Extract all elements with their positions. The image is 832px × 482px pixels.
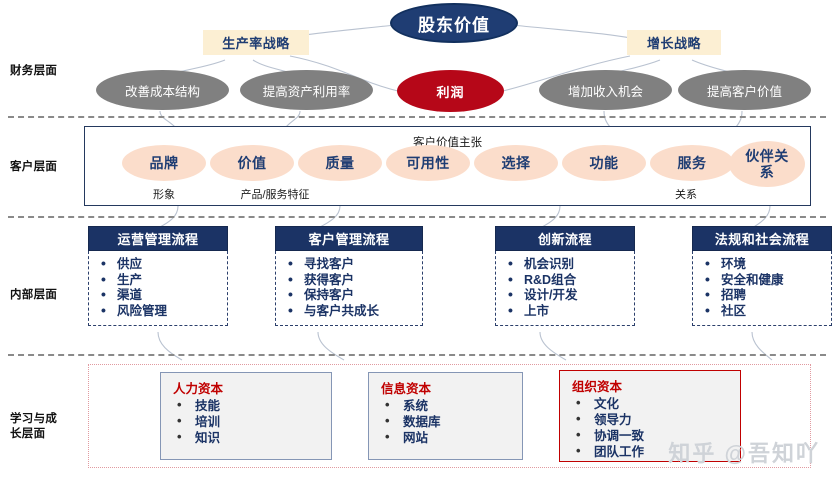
- capital-item: 领导力: [572, 412, 734, 428]
- capital-title-human-capital: 人力资本: [173, 381, 325, 397]
- process-item: 环境: [703, 257, 827, 273]
- capital-box-information-capital[interactable]: 信息资本 系统 数据库 网站: [368, 372, 523, 460]
- process-box-regulatory-social[interactable]: 法规和社会流程 环境 安全和健康 招聘 社区: [692, 226, 832, 326]
- cvp-group-relationship: 关系: [650, 186, 722, 202]
- process-item: 保持客户: [286, 288, 418, 304]
- process-item: 安全和健康: [703, 273, 827, 289]
- divider-customer-internal: [8, 216, 826, 218]
- process-items-regulatory-social: 环境 安全和健康 招聘 社区: [692, 251, 832, 326]
- process-item: 设计/开发: [506, 288, 630, 304]
- strategy-tag-growth[interactable]: 增长战略: [627, 30, 721, 55]
- objective-profit[interactable]: 利润: [397, 70, 504, 112]
- watermark: 知乎 @吾知吖: [668, 436, 820, 468]
- layer-label-customer: 客户层面: [10, 160, 90, 175]
- capital-title-organization-capital: 组织资本: [572, 379, 734, 395]
- capital-box-human-capital[interactable]: 人力资本 技能 培训 知识: [160, 372, 332, 460]
- cvp-availability[interactable]: 可用性: [386, 145, 470, 181]
- cvp-function[interactable]: 功能: [562, 145, 646, 181]
- process-item: 上市: [506, 304, 630, 320]
- process-title-innovation: 创新流程: [495, 226, 635, 251]
- capital-item: 知识: [173, 430, 325, 446]
- capital-item: 系统: [381, 398, 516, 414]
- process-item: 供应: [99, 257, 223, 273]
- objective-customer-value[interactable]: 提高客户价值: [678, 70, 811, 110]
- strategy-map: 财务层面 股东价值 生产率战略 增长战略 改善成本结构 提高资产利用率 利润 增…: [0, 0, 832, 482]
- cvp-group-image: 形象: [128, 186, 200, 202]
- process-title-operations-management: 运营管理流程: [88, 226, 228, 251]
- layer-label-financial: 财务层面: [10, 64, 90, 79]
- process-item: 寻找客户: [286, 257, 418, 273]
- process-item: 获得客户: [286, 273, 418, 289]
- process-box-innovation[interactable]: 创新流程 机会识别 R&D组合 设计/开发 上市: [495, 226, 635, 326]
- process-item: 社区: [703, 304, 827, 320]
- objective-asset-utilization[interactable]: 提高资产利用率: [240, 70, 373, 110]
- objective-cost-structure[interactable]: 改善成本结构: [96, 70, 229, 110]
- process-item: 招聘: [703, 288, 827, 304]
- process-title-regulatory-social: 法规和社会流程: [692, 226, 832, 251]
- process-item: 渠道: [99, 288, 223, 304]
- cvp-partnership[interactable]: 伙伴关系: [729, 141, 805, 187]
- layer-label-internal: 内部层面: [10, 288, 90, 303]
- cvp-group-product-service: 产品/服务特征: [210, 186, 340, 202]
- cvp-quality[interactable]: 质量: [298, 145, 382, 181]
- apex-shareholder-value[interactable]: 股东价值: [390, 3, 518, 43]
- process-items-innovation: 机会识别 R&D组合 设计/开发 上市: [495, 251, 635, 326]
- layer-label-learning: 学习与成 长层面: [10, 412, 82, 442]
- cvp-brand[interactable]: 品牌: [122, 145, 206, 181]
- capital-item: 文化: [572, 396, 734, 412]
- process-item: 风险管理: [99, 304, 223, 320]
- process-items-customer-management: 寻找客户 获得客户 保持客户 与客户共成长: [275, 251, 423, 326]
- cvp-service[interactable]: 服务: [650, 145, 734, 181]
- process-item: 与客户共成长: [286, 304, 418, 320]
- cvp-selection[interactable]: 选择: [474, 145, 558, 181]
- objective-revenue-opportunity[interactable]: 增加收入机会: [539, 70, 672, 110]
- process-box-customer-management[interactable]: 客户管理流程 寻找客户 获得客户 保持客户 与客户共成长: [275, 226, 423, 326]
- capital-item: 技能: [173, 398, 325, 414]
- process-item: R&D组合: [506, 273, 630, 289]
- capital-item: 网站: [381, 430, 516, 446]
- process-item: 生产: [99, 273, 223, 289]
- divider-internal-learning: [8, 354, 826, 356]
- strategy-tag-productivity[interactable]: 生产率战略: [203, 30, 309, 55]
- process-title-customer-management: 客户管理流程: [275, 226, 423, 251]
- process-items-operations-management: 供应 生产 渠道 风险管理: [88, 251, 228, 326]
- process-box-operations-management[interactable]: 运营管理流程 供应 生产 渠道 风险管理: [88, 226, 228, 326]
- cvp-value[interactable]: 价值: [210, 145, 294, 181]
- capital-item: 培训: [173, 414, 325, 430]
- capital-item: 数据库: [381, 414, 516, 430]
- divider-financial-customer: [8, 116, 826, 118]
- capital-title-information-capital: 信息资本: [381, 381, 516, 397]
- process-item: 机会识别: [506, 257, 630, 273]
